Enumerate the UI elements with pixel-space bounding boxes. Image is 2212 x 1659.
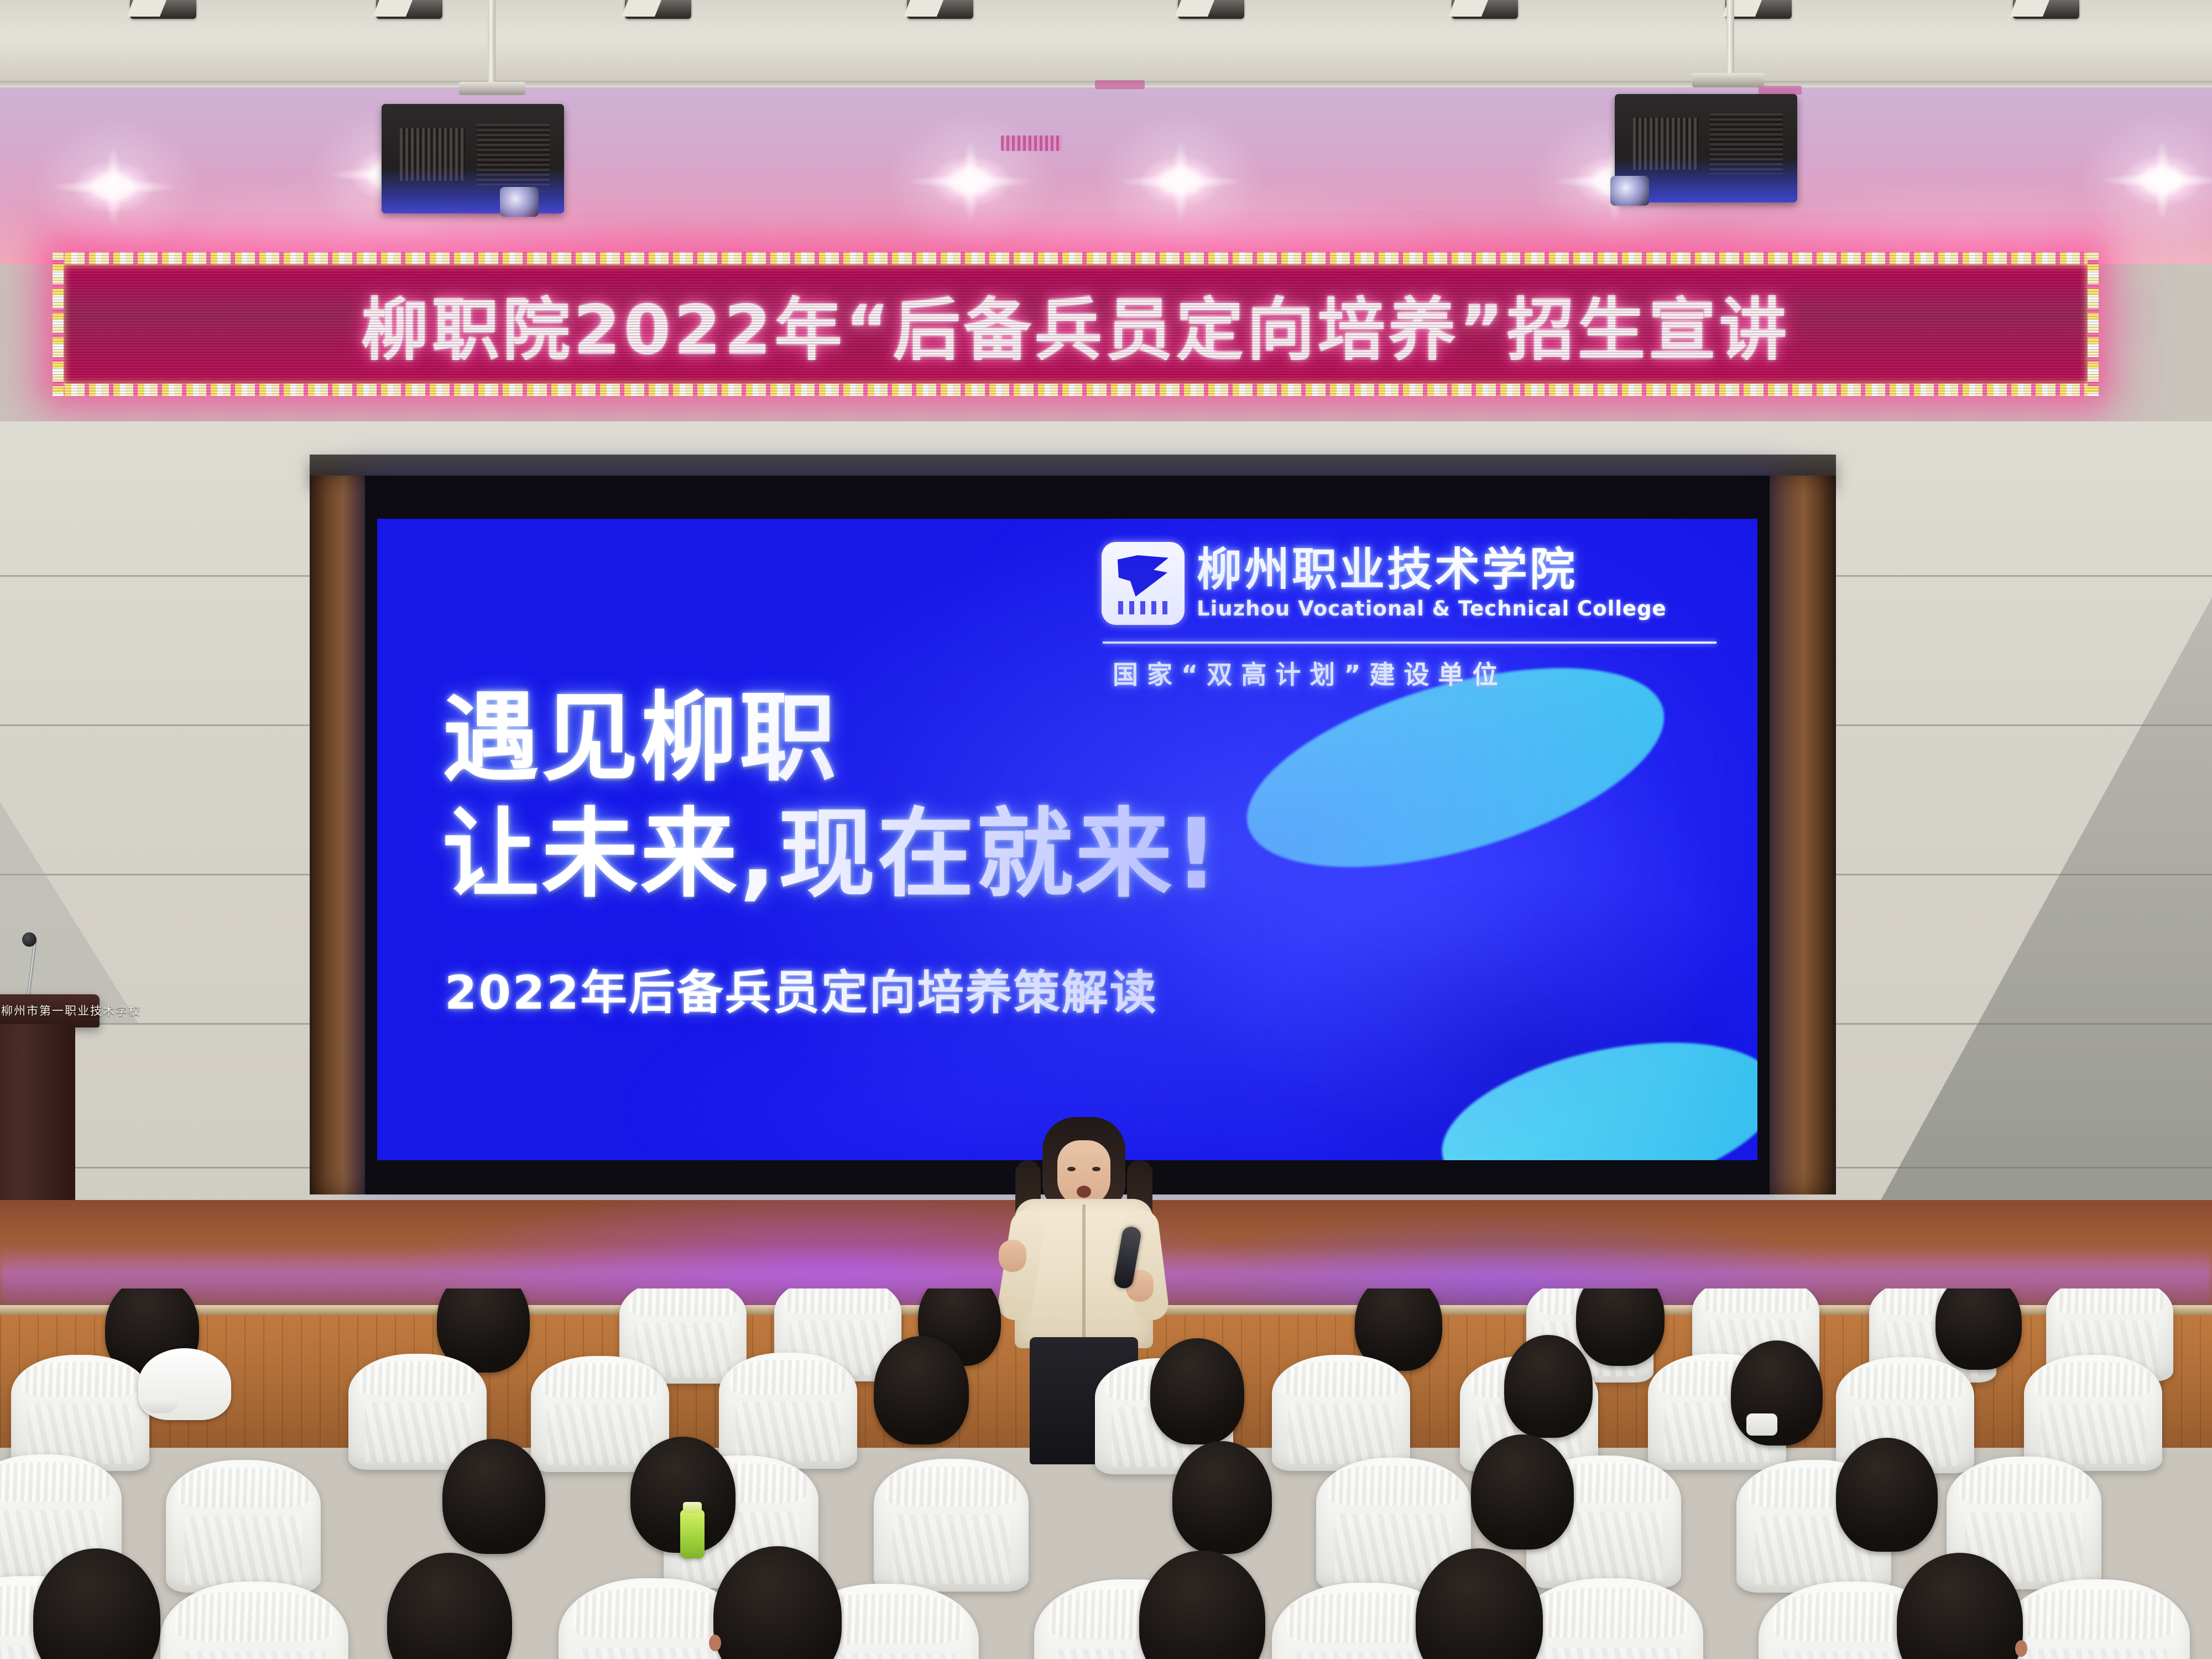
chair bbox=[1515, 1578, 1703, 1659]
audience-seating bbox=[0, 1288, 2212, 1659]
attendee-head bbox=[387, 1553, 512, 1659]
ceiling-fixture bbox=[2013, 0, 2079, 19]
podium-nameplate: 柳州市第一职业技术学校 bbox=[0, 1002, 141, 1019]
ceiling-projector bbox=[382, 104, 564, 213]
ceiling-projector bbox=[1615, 94, 1797, 202]
chair bbox=[719, 1353, 857, 1469]
attendee-head bbox=[1836, 1438, 1938, 1552]
chair bbox=[1272, 1355, 1410, 1471]
wall-fitting bbox=[1759, 86, 1802, 95]
chair bbox=[2002, 1579, 2190, 1659]
ceiling bbox=[0, 0, 2212, 84]
attendee-head bbox=[442, 1439, 545, 1554]
ceiling-fixture bbox=[625, 0, 691, 19]
attendee-head bbox=[1150, 1338, 1244, 1444]
liuzhou-college-logo-mark bbox=[1102, 542, 1185, 625]
stage-curtain-left bbox=[310, 476, 371, 1194]
chair bbox=[11, 1355, 149, 1471]
chair bbox=[874, 1459, 1029, 1592]
attendee-head bbox=[1139, 1551, 1265, 1659]
auditorium-scene: 柳职院2022年“后备兵员定向培养”招生宣讲 bbox=[0, 0, 2212, 1659]
attendee-head bbox=[874, 1336, 969, 1444]
slide-title: 遇见柳职 让未来,现在就来! bbox=[442, 685, 1220, 909]
projector-mount-rod bbox=[488, 0, 495, 94]
projection-screen: 柳州职业技术学院 Liuzhou Vocational & Technical … bbox=[377, 519, 1757, 1160]
ceiling-fixture bbox=[1725, 0, 1792, 19]
ceiling-fixture bbox=[376, 0, 442, 19]
led-banner-text: 柳职院2022年“后备兵员定向培养”招生宣讲 bbox=[53, 252, 2099, 396]
ceiling-fixture bbox=[1178, 0, 1244, 19]
projector-mount-rod bbox=[1726, 0, 1734, 84]
ceiling-spotlight bbox=[929, 155, 1012, 208]
speaker-left-hand bbox=[999, 1240, 1026, 1272]
ceiling-fixture bbox=[1452, 0, 1518, 19]
logo-name-en: Liuzhou Vocational & Technical College bbox=[1197, 597, 1667, 620]
attendee-head bbox=[1471, 1434, 1574, 1550]
podium-microphone-head bbox=[22, 932, 36, 947]
projector-mount-bracket bbox=[1692, 73, 1764, 87]
stage-curtain-right bbox=[1764, 476, 1836, 1194]
chair bbox=[160, 1582, 348, 1659]
slide-subtitle: 2022年后备兵员定向培养策解读 bbox=[445, 956, 1158, 1022]
bottle-cap bbox=[683, 1502, 702, 1513]
speaker-face bbox=[1057, 1140, 1110, 1207]
projection-screen-frame: 柳州职业技术学院 Liuzhou Vocational & Technical … bbox=[365, 476, 1770, 1194]
chair bbox=[166, 1460, 321, 1593]
face-mask bbox=[1746, 1413, 1777, 1436]
slide-logo-lockup: 柳州职业技术学院 Liuzhou Vocational & Technical … bbox=[1102, 542, 1667, 625]
ceiling-fixture bbox=[130, 0, 196, 19]
led-banner: 柳职院2022年“后备兵员定向培养”招生宣讲 bbox=[53, 252, 2099, 396]
attendee-head bbox=[1936, 1288, 2022, 1370]
wall-vent bbox=[1001, 135, 1062, 151]
logo-name-cn: 柳州职业技术学院 bbox=[1197, 546, 1667, 594]
ceiling-spotlight bbox=[2121, 154, 2204, 207]
attendee-head bbox=[1172, 1441, 1272, 1554]
slide-title-line2: 让未来,现在就来! bbox=[442, 801, 1220, 909]
attendee-head bbox=[1504, 1335, 1593, 1438]
slide-title-line1: 遇见柳职 bbox=[442, 682, 838, 795]
ceiling-spotlight bbox=[1139, 155, 1222, 208]
logo-divider-rule bbox=[1103, 641, 1717, 644]
chair bbox=[2024, 1355, 2162, 1471]
projector-mount-bracket bbox=[459, 82, 525, 95]
ceiling-fixture bbox=[907, 0, 973, 19]
attendee-head bbox=[1576, 1288, 1665, 1366]
green-drink-bottle bbox=[680, 1510, 705, 1558]
ceiling-spotlight bbox=[72, 160, 155, 213]
wall-fitting bbox=[1095, 80, 1145, 89]
podium-nameplate-text: 柳州市第一职业技术学校 bbox=[1, 1002, 141, 1019]
